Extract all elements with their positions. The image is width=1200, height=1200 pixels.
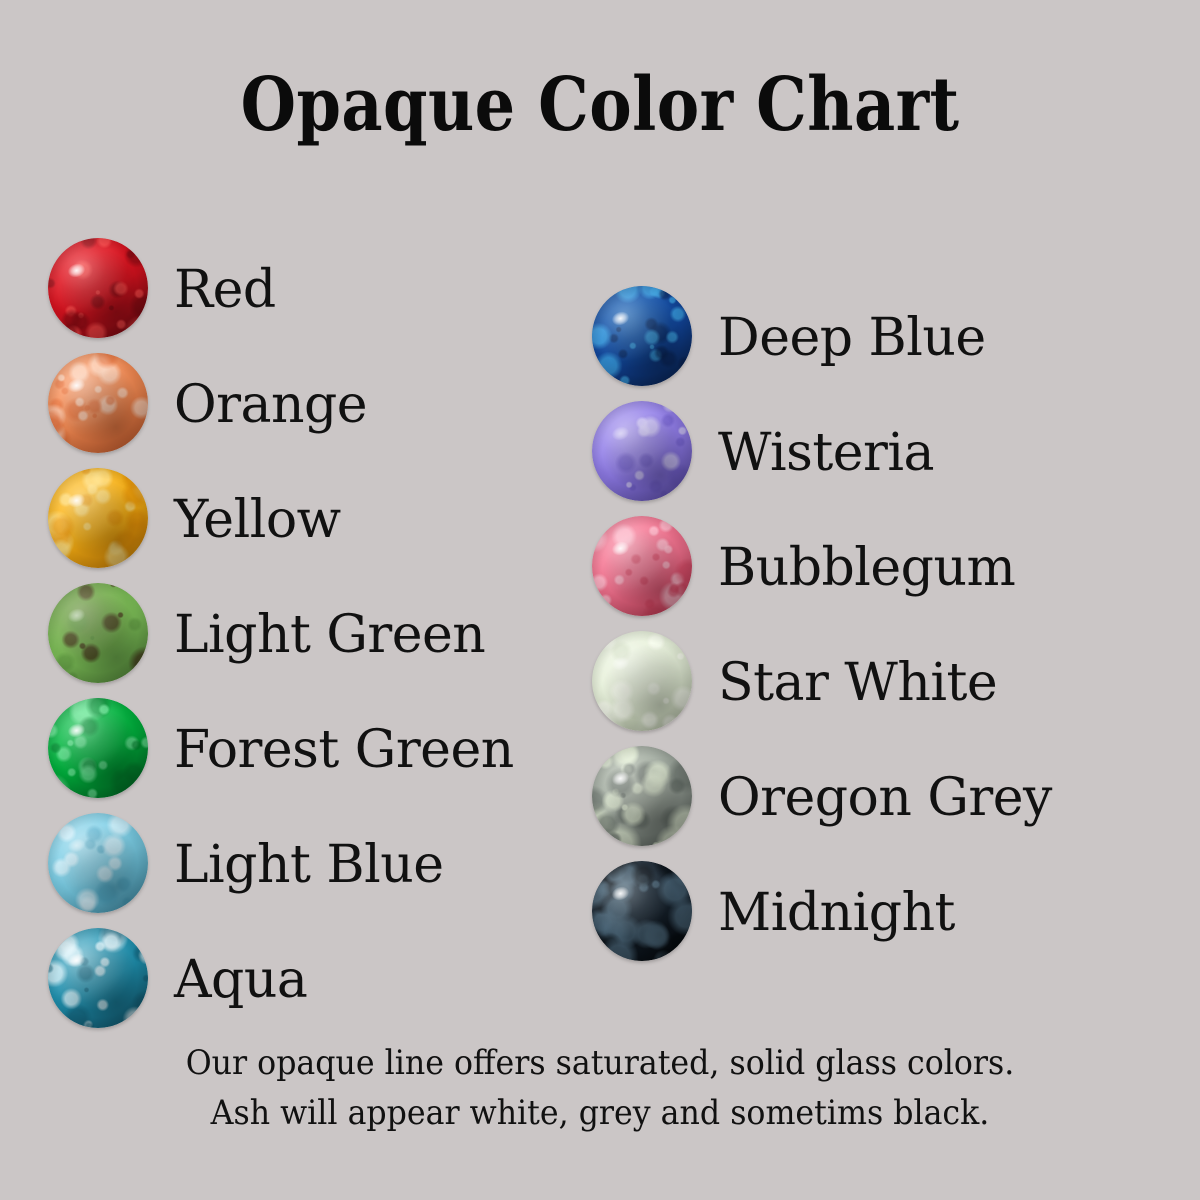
- swatch-row[interactable]: Wisteria: [592, 395, 1152, 510]
- marble-icon: [592, 516, 692, 616]
- marble-shading: [48, 468, 148, 568]
- marble-shading: [48, 928, 148, 1028]
- swatch-row[interactable]: Bubblegum: [592, 510, 1152, 625]
- swatch-row[interactable]: Midnight: [592, 855, 1152, 970]
- swatch-row[interactable]: Orange: [48, 347, 608, 462]
- marble-swatch-deep-blue[interactable]: [592, 286, 696, 390]
- marble-swatch-midnight[interactable]: [592, 861, 696, 965]
- marble-shading: [48, 583, 148, 683]
- marble-icon: [592, 746, 692, 846]
- swatch-label: Oregon Grey: [718, 770, 1052, 826]
- marble-swatch-red[interactable]: [48, 238, 152, 342]
- marble-icon: [48, 698, 148, 798]
- swatch-label: Yellow: [174, 492, 341, 548]
- marble-icon: [48, 583, 148, 683]
- footer-line-1: Our opaque line offers saturated, solid …: [42, 1038, 1158, 1088]
- footer-line-2: Ash will appear white, grey and sometims…: [42, 1088, 1158, 1138]
- swatch-label: Wisteria: [718, 425, 934, 481]
- marble-shading: [592, 861, 692, 961]
- swatch-label: Light Blue: [174, 837, 443, 893]
- marble-swatch-bubblegum[interactable]: [592, 516, 696, 620]
- marble-swatch-light-green[interactable]: [48, 583, 152, 687]
- marble-swatch-light-blue[interactable]: [48, 813, 152, 917]
- swatch-column-right: Deep BlueWisteriaBubblegumStar WhiteOreg…: [592, 280, 1152, 970]
- marble-swatch-wisteria[interactable]: [592, 401, 696, 505]
- marble-swatch-yellow[interactable]: [48, 468, 152, 572]
- swatch-label: Red: [174, 262, 276, 318]
- swatch-row[interactable]: Yellow: [48, 462, 608, 577]
- swatch-label: Light Green: [174, 607, 485, 663]
- swatch-row[interactable]: Light Blue: [48, 807, 608, 922]
- marble-swatch-star-white[interactable]: [592, 631, 696, 735]
- swatch-label: Orange: [174, 377, 367, 433]
- page-title: Opaque Color Chart: [84, 62, 1116, 148]
- marble-icon: [48, 353, 148, 453]
- swatch-row[interactable]: Forest Green: [48, 692, 608, 807]
- swatch-row[interactable]: Red: [48, 232, 608, 347]
- swatch-row[interactable]: Light Green: [48, 577, 608, 692]
- swatch-label: Bubblegum: [718, 540, 1015, 596]
- marble-shading: [592, 286, 692, 386]
- swatch-label: Aqua: [174, 952, 307, 1008]
- color-chart-page: Opaque Color Chart RedOrangeYellowLight …: [0, 0, 1200, 1200]
- swatch-column-left: RedOrangeYellowLight GreenForest GreenLi…: [48, 232, 608, 1037]
- marble-shading: [48, 238, 148, 338]
- marble-shading: [48, 698, 148, 798]
- marble-icon: [592, 631, 692, 731]
- swatch-row[interactable]: Deep Blue: [592, 280, 1152, 395]
- swatch-label: Deep Blue: [718, 310, 986, 366]
- marble-icon: [592, 286, 692, 386]
- marble-shading: [592, 401, 692, 501]
- marble-icon: [48, 238, 148, 338]
- footer-note: Our opaque line offers saturated, solid …: [42, 1038, 1158, 1138]
- swatch-label: Forest Green: [174, 722, 514, 778]
- swatch-row[interactable]: Star White: [592, 625, 1152, 740]
- marble-shading: [592, 631, 692, 731]
- swatch-label: Midnight: [718, 885, 955, 941]
- marble-icon: [48, 468, 148, 568]
- swatch-row[interactable]: Oregon Grey: [592, 740, 1152, 855]
- marble-shading: [48, 353, 148, 453]
- marble-shading: [592, 516, 692, 616]
- marble-swatch-forest-green[interactable]: [48, 698, 152, 802]
- marble-icon: [592, 401, 692, 501]
- marble-swatch-orange[interactable]: [48, 353, 152, 457]
- marble-swatch-oregon-grey[interactable]: [592, 746, 696, 850]
- marble-icon: [592, 861, 692, 961]
- swatch-row[interactable]: Aqua: [48, 922, 608, 1037]
- marble-shading: [48, 813, 148, 913]
- marble-shading: [592, 746, 692, 846]
- marble-swatch-aqua[interactable]: [48, 928, 152, 1032]
- swatch-label: Star White: [718, 655, 997, 711]
- marble-icon: [48, 813, 148, 913]
- marble-icon: [48, 928, 148, 1028]
